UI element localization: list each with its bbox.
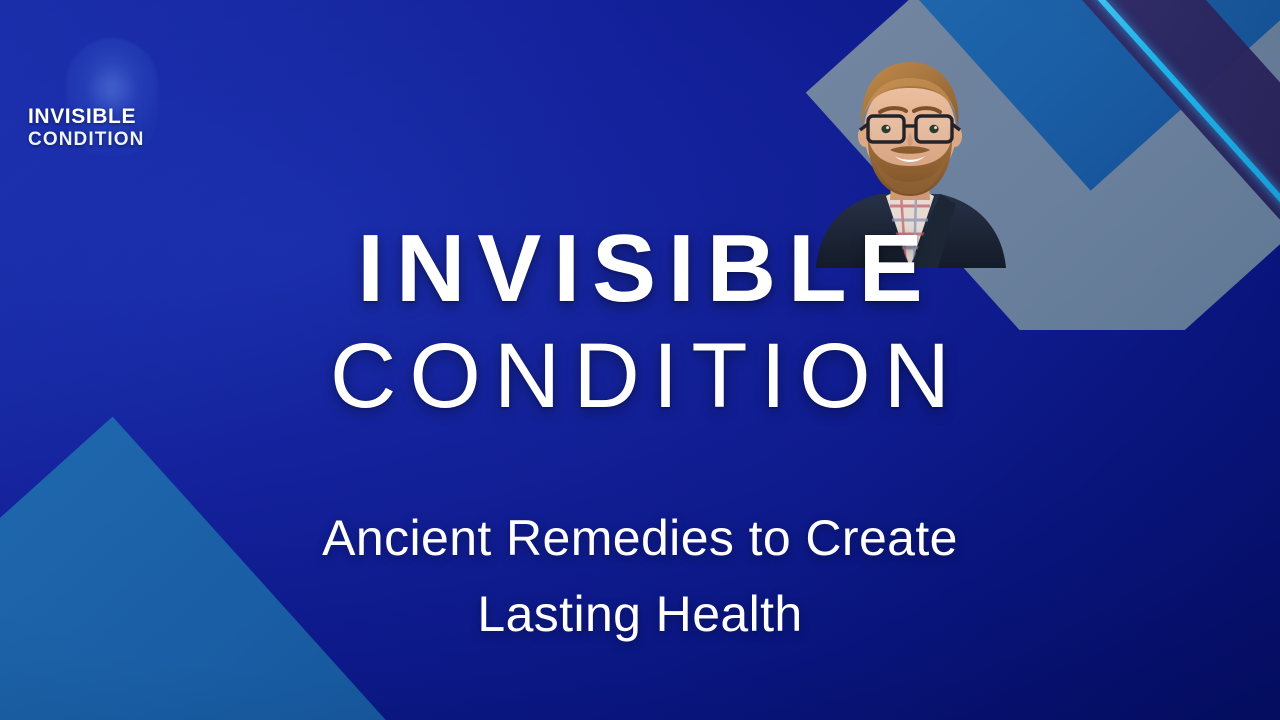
subtitle-line-2: Lasting Health — [0, 576, 1280, 652]
brand-logo-line1: INVISIBLE — [28, 106, 198, 127]
brand-logo-line2: CONDITION — [28, 129, 198, 151]
subtitle-line-1: Ancient Remedies to Create — [0, 500, 1280, 576]
title-line-2: CONDITION — [0, 330, 1280, 422]
page-title: INVISIBLE CONDITION — [0, 222, 1280, 422]
title-line-1: INVISIBLE — [0, 222, 1280, 316]
subtitle: Ancient Remedies to Create Lasting Healt… — [0, 500, 1280, 652]
brand-logo: INVISIBLE CONDITION — [28, 38, 198, 156]
brand-logo-text: INVISIBLE CONDITION — [28, 106, 198, 151]
title-slide: INVISIBLE CONDITION — [0, 0, 1280, 720]
